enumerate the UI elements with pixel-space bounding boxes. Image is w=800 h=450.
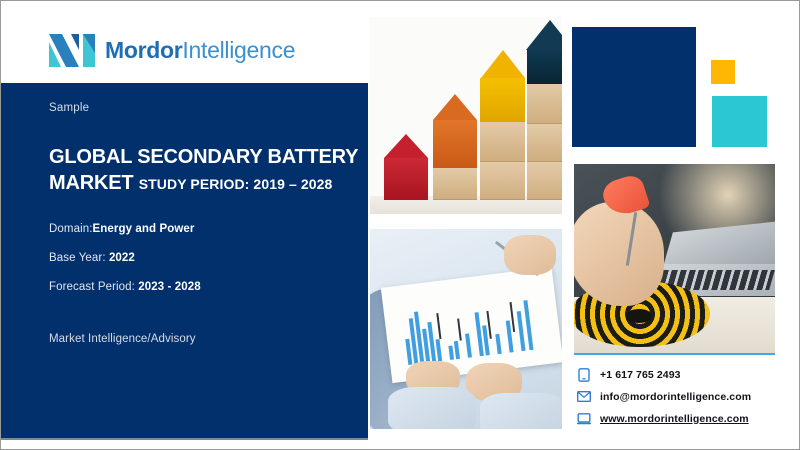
title-panel: Sample GLOBAL SECONDARY BATTERY MARKET S…	[1, 83, 368, 438]
roof-yellow	[481, 50, 525, 78]
meta-label-domain: Domain:	[49, 223, 93, 235]
brand-logo[interactable]: MordorIntelligence	[49, 34, 295, 67]
tower-3-body	[480, 78, 525, 200]
meta-value-forecast-period: 2023 - 2028	[138, 281, 201, 293]
photo-sleeve-right	[480, 393, 562, 429]
photo-dartboard	[574, 164, 775, 355]
block-tower-3	[480, 50, 525, 200]
envelope-icon	[577, 390, 591, 404]
paper-candlestick	[457, 319, 462, 341]
paper-bar	[448, 346, 454, 360]
monitor-icon	[577, 412, 591, 426]
meta-row-base-year: Base Year: 2022	[49, 252, 359, 264]
block-tower-1	[384, 134, 428, 200]
decorative-yellow-square	[711, 60, 735, 84]
paper-bar	[436, 339, 443, 361]
contact-block: +1 617 765 2493 info@mordorintelligence.…	[577, 365, 787, 431]
report-cover-page: MordorIntelligence Sample GLOBAL SECONDA…	[0, 0, 800, 450]
tower-4-seg-wood-c	[527, 162, 562, 200]
tower-1-body	[384, 158, 428, 200]
contact-website-text: www.mordorintelligence.com	[600, 413, 749, 425]
contact-phone-text: +1 617 765 2493	[600, 369, 681, 381]
roof-orange	[433, 94, 477, 120]
block-tower-4	[527, 20, 562, 200]
photo-sleeve-left	[388, 387, 476, 429]
report-metadata: Domain:Energy and Power Base Year: 2022 …	[49, 223, 359, 310]
tower-3-seg-wood-b	[480, 162, 525, 200]
meta-label-base-year: Base Year:	[49, 252, 106, 264]
contact-row-website[interactable]: www.mordorintelligence.com	[577, 409, 787, 428]
paper-candlestick	[436, 313, 441, 339]
brand-name-bold: Mordor	[105, 37, 182, 63]
meta-row-forecast-period: Forecast Period: 2023 - 2028	[49, 281, 359, 293]
tower-2-seg-orange	[433, 120, 477, 168]
meta-row-domain: Domain:Energy and Power	[49, 223, 359, 235]
roof-red	[384, 134, 428, 158]
tower-2-seg-wood	[433, 168, 477, 200]
paper-bar	[517, 311, 526, 351]
tower-3-seg-wood-a	[480, 122, 525, 162]
photo-dart-bullseye	[626, 309, 652, 323]
roof-navy	[526, 20, 563, 50]
advisory-label: Market Intelligence/Advisory	[49, 333, 196, 345]
tower-4-seg-wood-b	[527, 124, 562, 162]
photo-hand-holding-dart	[574, 202, 664, 306]
phone-icon	[577, 368, 591, 382]
tower-2-body	[433, 120, 477, 200]
meta-value-domain: Energy and Power	[93, 223, 195, 235]
photo-hand-upper	[504, 235, 556, 275]
decorative-navy-square	[572, 27, 696, 147]
photo-wooden-blocks	[370, 17, 562, 214]
tower-4-body	[527, 50, 562, 200]
photo-chart-paper	[381, 267, 562, 383]
contact-row-email[interactable]: info@mordorintelligence.com	[577, 387, 787, 406]
contact-email-text: info@mordorintelligence.com	[600, 391, 751, 403]
brand-name-light: Intelligence	[182, 37, 295, 63]
paper-bar	[523, 300, 533, 350]
mordor-m-logo-icon	[49, 34, 95, 67]
block-tower-2	[433, 94, 477, 200]
panel-bottom-strip	[1, 438, 368, 440]
brand-wordmark: MordorIntelligence	[105, 39, 295, 62]
tower-4-seg-navy	[527, 50, 562, 84]
meta-value-base-year: 2022	[109, 252, 135, 264]
sample-label: Sample	[49, 102, 89, 114]
page-title: GLOBAL SECONDARY BATTERY MARKET STUDY PE…	[49, 145, 367, 196]
title-block: GLOBAL SECONDARY BATTERY MARKET STUDY PE…	[49, 145, 367, 196]
photo-business-chart	[370, 229, 562, 429]
paper-bar	[495, 334, 501, 354]
meta-label-forecast-period: Forecast Period:	[49, 281, 135, 293]
decorative-cyan-square	[712, 96, 767, 147]
paper-bar	[454, 341, 460, 359]
tower-4-seg-wood-a	[527, 84, 562, 124]
paper-bar	[465, 333, 472, 357]
study-period-label: STUDY PERIOD: 2019 – 2028	[139, 176, 333, 192]
contact-row-phone[interactable]: +1 617 765 2493	[577, 365, 787, 384]
tower-3-seg-yellow	[480, 78, 525, 122]
